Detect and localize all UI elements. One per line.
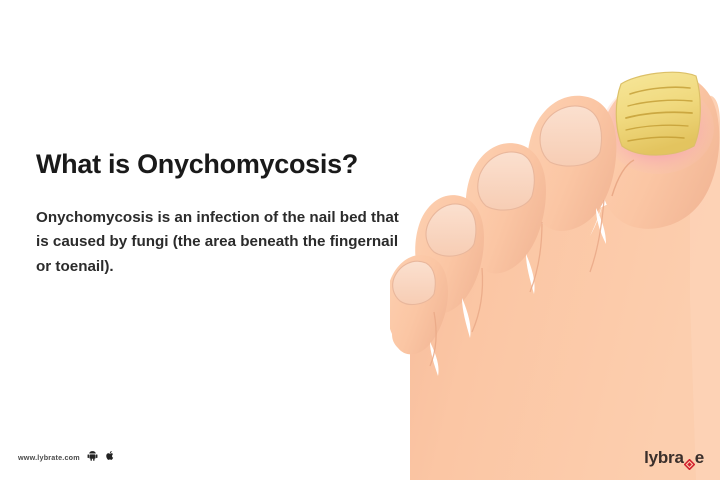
- lybrate-logo[interactable]: lybra e: [644, 448, 704, 468]
- footer-left-group: www.lybrate.com: [18, 448, 115, 466]
- footer-website-url: www.lybrate.com: [18, 453, 80, 462]
- page-description: Onychomycosis is an infection of the nai…: [36, 206, 401, 280]
- foot-illustration: [390, 0, 720, 480]
- lybrate-logo-text-after: e: [695, 448, 704, 468]
- text-block: What is Onychomycosis? Onychomycosis is …: [36, 150, 416, 280]
- apple-logo-icon[interactable]: [105, 448, 115, 466]
- page-title: What is Onychomycosis?: [36, 150, 416, 180]
- lybrate-logo-text-before: lybra: [644, 448, 684, 468]
- foot-illustration-svg: [390, 0, 720, 480]
- android-robot-icon[interactable]: [87, 448, 98, 466]
- diamond-icon: [684, 455, 695, 466]
- infographic-canvas: What is Onychomycosis? Onychomycosis is …: [0, 0, 720, 480]
